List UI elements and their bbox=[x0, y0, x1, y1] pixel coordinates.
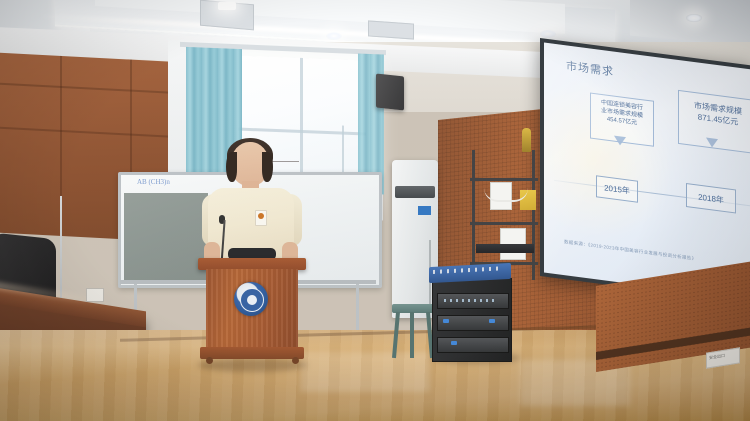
projection-screen[interactable]: 市场需求 中国连锁美容行 业市场需求规模 454.57亿元 市场需求规模 871… bbox=[544, 43, 750, 300]
ceiling-right-section bbox=[630, 0, 750, 46]
badge-logo bbox=[258, 213, 264, 219]
presenter-name-badge bbox=[255, 210, 267, 226]
ac-badge bbox=[418, 206, 431, 215]
downlight-3 bbox=[326, 32, 342, 40]
shelf-2 bbox=[470, 222, 538, 225]
rack-amplifier-3 bbox=[437, 337, 509, 353]
ceiling-speaker bbox=[376, 74, 404, 111]
whiteboard-shadow-area bbox=[124, 193, 208, 281]
podium bbox=[204, 258, 300, 366]
trophy bbox=[522, 128, 531, 152]
presenter-hair-left bbox=[226, 152, 237, 182]
university-crest-icon bbox=[234, 282, 268, 316]
shelf-cable bbox=[484, 186, 528, 202]
shelf-1 bbox=[470, 178, 538, 181]
shelf-post-left bbox=[472, 150, 475, 280]
shelf-post-right bbox=[532, 150, 535, 280]
podium-base bbox=[200, 347, 304, 359]
stool-leg-2 bbox=[410, 312, 414, 358]
ceiling-vent-2 bbox=[368, 20, 414, 39]
slide-year-2015: 2015年 bbox=[596, 175, 638, 202]
wall-socket bbox=[86, 288, 104, 302]
shelf-audio-device bbox=[476, 244, 534, 253]
audio-mixer bbox=[429, 263, 511, 283]
plastic-stool bbox=[392, 304, 434, 358]
lecture-hall-photo: 市场需求 中国连锁美容行 业市场需求规模 454.57亿元 市场需求规模 871… bbox=[0, 0, 750, 421]
amp-led-row bbox=[444, 299, 496, 302]
slide-source-note: 数据来源：《2019-2023年中国美容行业发展与投资分析报告》 bbox=[564, 239, 696, 262]
rack-amplifier-2 bbox=[437, 315, 509, 331]
slide-title: 市场需求 bbox=[566, 57, 614, 79]
mixer-knobs bbox=[433, 266, 503, 274]
equipment-shelf bbox=[470, 150, 538, 280]
callout-left-tail bbox=[614, 136, 626, 147]
projection-screen-frame: 市场需求 中国连锁美容行 业市场需求规模 454.57亿元 市场需求规模 871… bbox=[540, 38, 750, 304]
presenter bbox=[198, 142, 304, 264]
whiteboard-writing: AB (CH3)n bbox=[137, 178, 170, 186]
floor-reflection-1 bbox=[300, 352, 430, 392]
podium-caster-right bbox=[292, 357, 299, 364]
audio-rack bbox=[432, 278, 512, 362]
ceiling-light-panel bbox=[218, 2, 236, 10]
presenter-hair-right bbox=[262, 152, 273, 182]
podium-caster-left bbox=[206, 357, 213, 364]
screen-glare bbox=[544, 43, 750, 300]
crest-center bbox=[247, 295, 257, 305]
rack-led-blue-3 bbox=[451, 341, 457, 345]
rack-led-blue-2 bbox=[489, 319, 495, 323]
slide-year-2018: 2018年 bbox=[686, 183, 736, 213]
downlight-5 bbox=[686, 14, 702, 22]
ac-vent bbox=[395, 186, 435, 198]
downlight-4 bbox=[540, 30, 556, 38]
crest-inner-ring bbox=[240, 288, 264, 312]
rack-amplifier-1 bbox=[437, 293, 509, 309]
stool-leg-1 bbox=[392, 312, 400, 358]
rack-led-blue-1 bbox=[443, 319, 449, 323]
callout-right-tail bbox=[706, 138, 718, 149]
